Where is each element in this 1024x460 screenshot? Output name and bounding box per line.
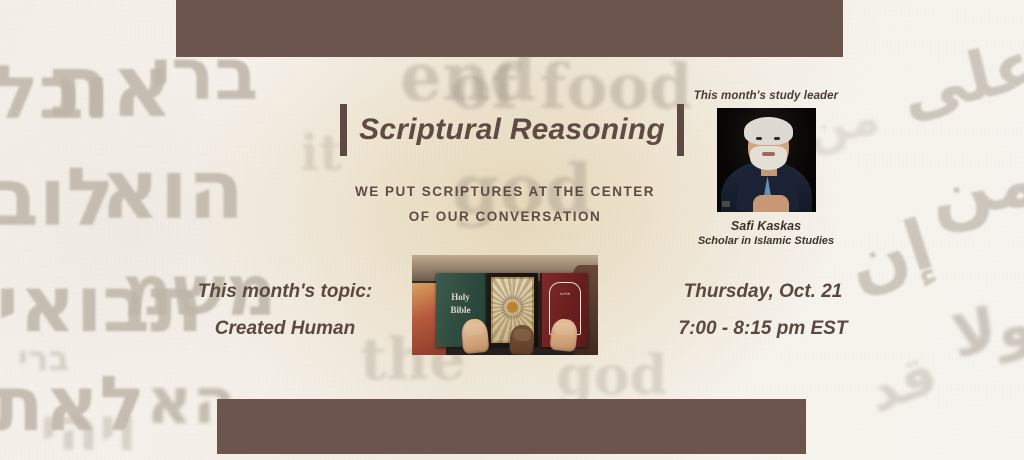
study-leader-kicker: This month's study leader <box>686 90 846 102</box>
bible-title-line-2: Bible <box>436 304 485 317</box>
top-banner-bar <box>176 0 843 57</box>
bible-title-line-1: Holy <box>436 291 485 304</box>
tagline: WE PUT SCRIPTURES AT THE CENTER OF OUR C… <box>352 180 658 230</box>
hand-knuckles <box>554 322 575 336</box>
page-title: Scriptural Reasoning <box>347 113 677 147</box>
bottom-banner-bar <box>217 399 806 454</box>
title-block: Scriptural Reasoning <box>340 100 684 160</box>
hand-holding-quran <box>509 324 535 355</box>
event-date: Thursday, Oct. 21 <box>638 282 888 301</box>
datetime-spacer <box>638 301 888 319</box>
title-left-rule <box>340 104 347 156</box>
tagline-line-2: OF OUR CONVERSATION <box>352 205 658 230</box>
hand-knuckles <box>513 328 532 341</box>
hand-knuckles <box>464 322 485 336</box>
event-datetime-block: Thursday, Oct. 21 7:00 - 8:15 pm EST <box>638 282 888 338</box>
topic-value: Created Human <box>150 319 420 338</box>
photo-hands <box>753 195 789 212</box>
poster-canvas: ובל את ברי לוב הוא תבואי משמ לאת הא ויהי… <box>0 0 1024 460</box>
photo-hair <box>744 117 793 145</box>
topic-label: This month's topic: <box>150 282 420 301</box>
hand-holding-torah <box>549 318 578 353</box>
scriptures-photo: Holy Bible אלהים <box>412 255 598 355</box>
study-leader-name: Safi Kaskas <box>686 219 846 233</box>
photo-eye-right <box>774 137 780 140</box>
study-leader-role: Scholar in Islamic Studies <box>686 235 846 247</box>
photo-beard <box>750 146 787 170</box>
study-leader-block: This month's study leader Safi Kaskas Sc… <box>686 90 846 247</box>
event-time: 7:00 - 8:15 pm EST <box>638 319 888 338</box>
study-leader-photo <box>717 108 816 212</box>
bible-cover-text: Holy Bible <box>436 291 485 317</box>
topic-spacer <box>150 301 420 319</box>
torah-cover-text: אלהים <box>553 291 577 297</box>
tagline-line-1: WE PUT SCRIPTURES AT THE CENTER <box>352 180 658 205</box>
title-right-rule <box>677 104 684 156</box>
photo-mouth <box>762 152 775 156</box>
photo-eye-left <box>756 137 762 140</box>
background-grain <box>0 0 1024 460</box>
topic-block: This month's topic: Created Human <box>150 282 420 338</box>
photo-corner-mark <box>722 201 730 207</box>
